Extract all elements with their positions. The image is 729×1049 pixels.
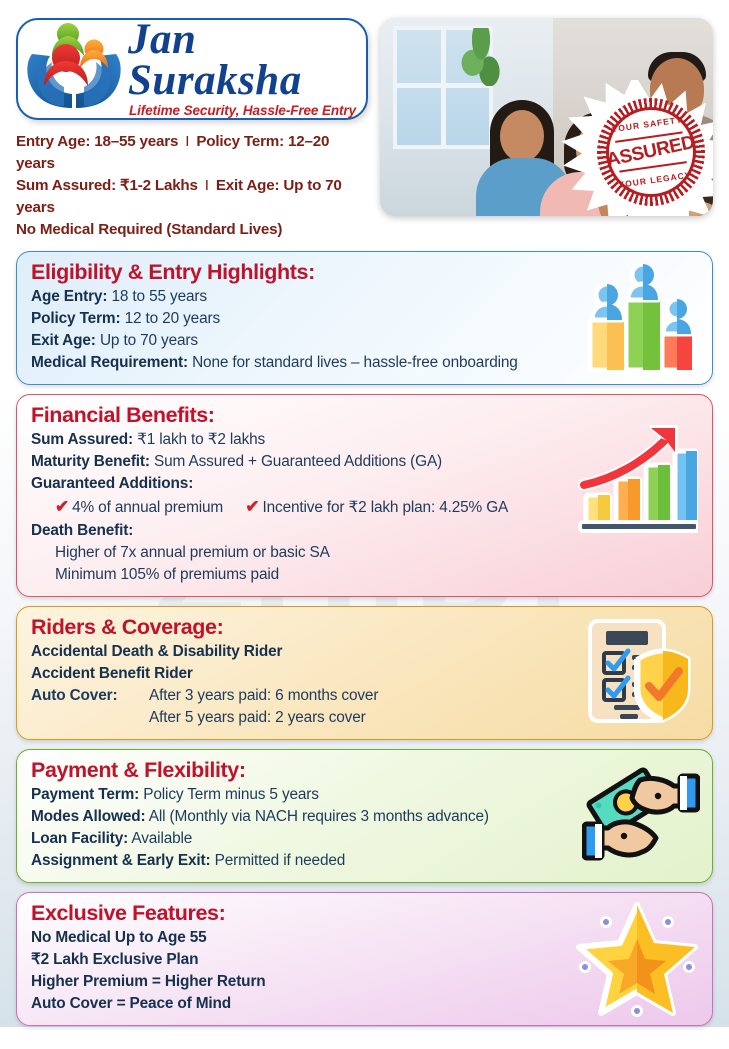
card-eligibility-title: Eligibility & Entry Highlights:	[31, 260, 698, 285]
financial-ga-item-2: Incentive for ₹2 lakh plan: 4.25% GA	[263, 499, 509, 516]
payment-assignment-value: Permitted if needed	[215, 852, 346, 869]
sum-assured-label: Sum Assured:	[16, 177, 116, 194]
payment-assignment-label: Assignment & Early Exit:	[31, 852, 210, 869]
financial-death-heading: Death Benefit:	[31, 520, 698, 542]
financial-maturity-value: Sum Assured + Guaranteed Additions (GA)	[154, 453, 442, 470]
eligibility-age-label: Age Entry:	[31, 288, 107, 305]
card-eligibility: Eligibility & Entry Highlights: Age Entr…	[16, 251, 713, 385]
financial-ga-items: ✔4% of annual premium ✔Incentive for ₹2 …	[31, 495, 698, 519]
eligibility-term-label: Policy Term:	[31, 310, 120, 327]
check-icon-1: ✔	[55, 497, 72, 516]
payment-row-loan: Loan Facility: Available	[31, 828, 698, 850]
eligibility-row-age: Age Entry: 18 to 55 years	[31, 286, 698, 308]
check-icon-2: ✔	[245, 497, 262, 516]
payment-loan-label: Loan Facility:	[31, 830, 128, 847]
brand-tagline: Lifetime Security, Hassle-Free Entry	[128, 103, 356, 118]
header-fact-line-1: Entry Age: 18–55 years I Policy Term: 12…	[16, 131, 368, 175]
auto-cover-spacer	[31, 707, 149, 729]
eligibility-row-exit: Exit Age: Up to 70 years	[31, 330, 698, 352]
policy-term-label: Policy Term:	[196, 133, 284, 150]
payment-modes-label: Modes Allowed:	[31, 808, 145, 825]
exclusive-item-4-text: Auto Cover = Peace of Mind	[31, 995, 231, 1012]
rider-item-1: Accidental Death & Disability Rider	[31, 641, 698, 663]
financial-sum-assured-value: ₹1 lakh to ₹2 lakhs	[137, 431, 265, 448]
family-photo: YOUR SAFETY ASSURED YOUR LEGACY	[380, 18, 713, 216]
payment-row-modes: Modes Allowed: All (Monthly via NACH req…	[31, 806, 698, 828]
eligibility-row-term: Policy Term: 12 to 20 years	[31, 308, 698, 330]
financial-maturity-row: Maturity Benefit: Sum Assured + Guarante…	[31, 451, 698, 473]
eligibility-exit-value: Up to 70 years	[100, 332, 198, 349]
auto-cover-value-1: After 3 years paid: 6 months cover	[149, 685, 378, 707]
eligibility-age-value: 18 to 55 years	[111, 288, 206, 305]
card-riders-title: Riders & Coverage:	[31, 615, 698, 640]
financial-sum-assured-row: Sum Assured: ₹1 lakh to ₹2 lakhs	[31, 429, 698, 451]
eligibility-exit-label: Exit Age:	[31, 332, 96, 349]
photo-plant	[460, 28, 502, 86]
financial-death-item-2: Minimum 105% of premiums paid	[31, 564, 698, 586]
infographic-page: Jan Suraksha Lifetime Security, Hassle-F…	[0, 0, 729, 1049]
financial-ga-label: Guaranteed Additions:	[31, 475, 193, 492]
exclusive-item-4: Auto Cover = Peace of Mind	[31, 993, 698, 1015]
photo-girl-head	[500, 110, 544, 162]
payment-row-term: Payment Term: Policy Term minus 5 years	[31, 784, 698, 806]
card-financial-benefits: Financial Benefits: Sum Assured: ₹1 lakh…	[16, 394, 713, 596]
financial-death-label: Death Benefit:	[31, 522, 133, 539]
payment-term-label: Payment Term:	[31, 786, 139, 803]
fact-separator-2: I	[202, 177, 212, 194]
exclusive-item-1: No Medical Up to Age 55	[31, 927, 698, 949]
financial-maturity-label: Maturity Benefit:	[31, 453, 150, 470]
eligibility-term-value: 12 to 20 years	[125, 310, 220, 327]
payment-row-assignment: Assignment & Early Exit: Permitted if ne…	[31, 850, 698, 872]
exclusive-item-2: ₹2 Lakh Exclusive Plan	[31, 949, 698, 971]
header-key-facts: Entry Age: 18–55 years I Policy Term: 12…	[16, 131, 368, 241]
card-exclusive-features: Exclusive Features: No Medical Up to Age…	[16, 892, 713, 1026]
eligibility-medical-label: Medical Requirement:	[31, 354, 188, 371]
payment-modes-value: All (Monthly via NACH requires 3 months …	[149, 808, 489, 825]
header: Jan Suraksha Lifetime Security, Hassle-F…	[16, 18, 713, 241]
no-medical-note: No Medical Required (Standard Lives)	[16, 219, 368, 241]
card-exclusive-title: Exclusive Features:	[31, 901, 698, 926]
rider-item-2: Accident Benefit Rider	[31, 663, 698, 685]
rider-item-2-text: Accident Benefit Rider	[31, 665, 193, 682]
exclusive-item-3: Higher Premium = Higher Return	[31, 971, 698, 993]
brand-wordmark: Jan Suraksha Lifetime Security, Hassle-F…	[126, 20, 356, 118]
financial-death-item-1: Higher of 7x annual premium or basic SA	[31, 542, 698, 564]
financial-ga-heading: Guaranteed Additions:	[31, 473, 698, 495]
auto-cover-row-2: After 5 years paid: 2 years cover	[31, 707, 698, 729]
payment-term-value: Policy Term minus 5 years	[143, 786, 319, 803]
card-financial-title: Financial Benefits:	[31, 403, 698, 428]
card-payment-flexibility: Payment & Flexibility: Payment Term: Pol…	[16, 749, 713, 883]
card-riders-coverage: Riders & Coverage: Accidental Death & Di…	[16, 606, 713, 740]
exclusive-item-1-text: No Medical Up to Age 55	[31, 929, 207, 946]
header-left-column: Jan Suraksha Lifetime Security, Hassle-F…	[16, 18, 368, 241]
card-payment-title: Payment & Flexibility:	[31, 758, 698, 783]
financial-sum-assured-label: Sum Assured:	[31, 431, 133, 448]
brand-name: Jan Suraksha	[128, 20, 356, 102]
payment-loan-value: Available	[131, 830, 192, 847]
hands-holding-family-icon	[22, 20, 126, 112]
exclusive-item-2-text: ₹2 Lakh Exclusive Plan	[31, 951, 198, 968]
fact-separator: I	[182, 133, 192, 150]
sum-assured-value: ₹1-2 Lakhs	[120, 177, 198, 194]
exclusive-item-3-text: Higher Premium = Higher Return	[31, 973, 266, 990]
assured-stamp-inner: YOUR SAFETY ASSURED YOUR LEGACY	[600, 101, 702, 203]
auto-cover-value-2: After 5 years paid: 2 years cover	[149, 707, 366, 729]
eligibility-medical-value: None for standard lives – hassle-free on…	[192, 354, 518, 371]
stamp-bottom-text: YOUR LEGACY	[613, 169, 698, 191]
financial-ga-item-1: 4% of annual premium	[72, 499, 223, 516]
entry-age-value: 18–55 years	[94, 133, 178, 150]
auto-cover-label: Auto Cover:	[31, 685, 149, 707]
exit-age-label: Exit Age:	[216, 177, 279, 194]
rider-item-1-text: Accidental Death & Disability Rider	[31, 643, 282, 660]
entry-age-label: Entry Age:	[16, 133, 90, 150]
header-fact-line-2: Sum Assured: ₹1-2 Lakhs I Exit Age: Up t…	[16, 175, 368, 219]
auto-cover-row-1: Auto Cover: After 3 years paid: 6 months…	[31, 685, 698, 707]
eligibility-row-medical: Medical Requirement: None for standard l…	[31, 352, 698, 374]
brand-logo-box: Jan Suraksha Lifetime Security, Hassle-F…	[16, 18, 368, 120]
